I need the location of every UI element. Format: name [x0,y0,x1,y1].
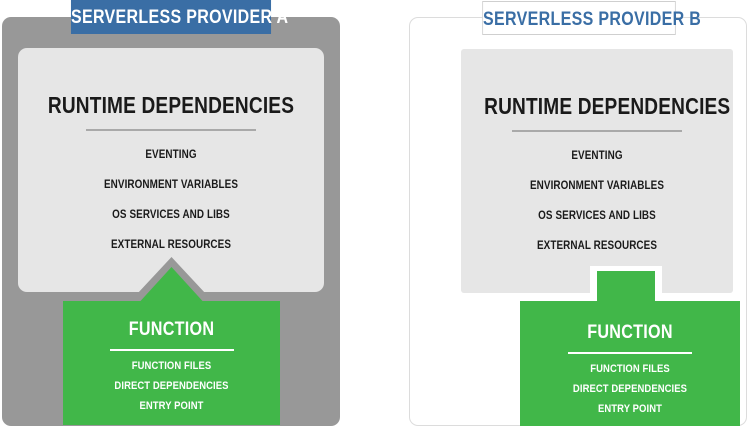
provider-a-panel: SERVERLESS PROVIDER A RUNTIME DEPENDENCI… [2,17,340,426]
provider-a-title-label: SERVERLESS PROVIDER A [71,0,288,34]
provider-b-title-badge: SERVERLESS PROVIDER B [482,1,676,35]
provider-a-runtime-heading: RUNTIME DEPENDENCIES [44,48,298,119]
provider-b-runtime-list: EVENTING ENVIRONMENT VARIABLES OS SERVIC… [461,132,733,252]
provider-b-panel: SERVERLESS PROVIDER B RUNTIME DEPENDENCI… [409,17,747,426]
provider-b-runtime-heading: RUNTIME DEPENDENCIES [484,49,710,120]
provider-b-function-block: FUNCTION FUNCTION FILES DIRECT DEPENDENC… [520,266,740,426]
provider-b-title-label: SERVERLESS PROVIDER B [483,2,701,36]
provider-a-runtime-list: EVENTING ENVIRONMENT VARIABLES OS SERVIC… [18,131,324,251]
list-item: ENVIRONMENT VARIABLES [39,179,302,191]
provider-b-runtime-dependencies-box: RUNTIME DEPENDENCIES EVENTING ENVIRONMEN… [461,49,733,293]
provider-a-title-badge: SERVERLESS PROVIDER A [71,0,271,34]
list-item: EVENTING [39,149,302,161]
diagram-canvas: SERVERLESS PROVIDER A RUNTIME DEPENDENCI… [0,0,751,428]
provider-b-function-notch-shape [520,266,740,426]
provider-a-function-block: FUNCTION FUNCTION FILES DIRECT DEPENDENC… [63,257,280,425]
provider-a-function-chevron-shape [63,257,280,425]
list-item: ENVIRONMENT VARIABLES [480,180,714,192]
list-item: OS SERVICES AND LIBS [480,210,714,222]
provider-a-runtime-dependencies-box: RUNTIME DEPENDENCIES EVENTING ENVIRONMEN… [18,48,324,292]
list-item: EXTERNAL RESOURCES [480,240,714,252]
list-item: OS SERVICES AND LIBS [39,209,302,221]
list-item: EXTERNAL RESOURCES [39,239,302,251]
list-item: EVENTING [480,150,714,162]
